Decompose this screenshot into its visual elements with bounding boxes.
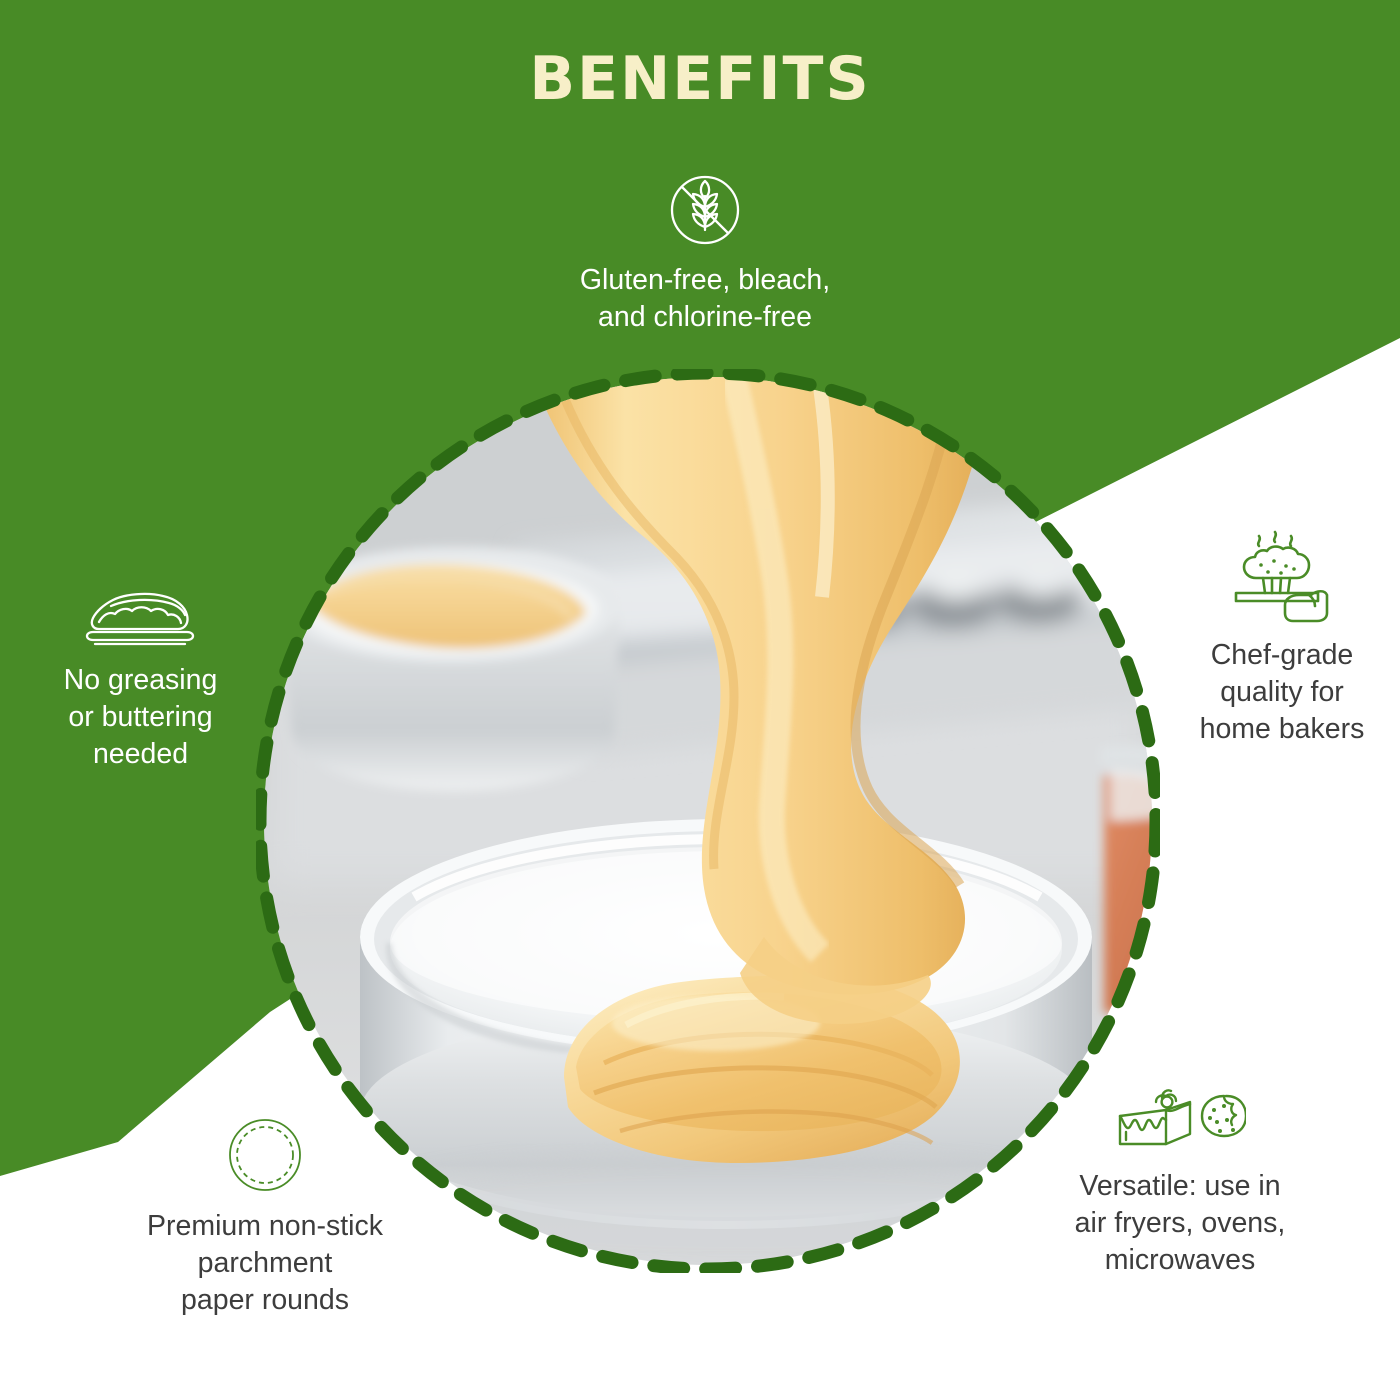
feature-chef-grade: Chef-grade quality for home bakers [1172, 527, 1392, 748]
feature-parchment-rounds: Premium non-stick parchment paper rounds [105, 1112, 425, 1319]
feature-label: Chef-grade quality for home bakers [1172, 637, 1392, 748]
feature-no-greasing: No greasing or buttering needed [18, 586, 263, 773]
feature-label: Premium non-stick parchment paper rounds [105, 1208, 425, 1319]
feature-label: Gluten-free, bleach, and chlorine-free [520, 262, 890, 336]
feature-label: No greasing or buttering needed [18, 662, 263, 773]
hand-holding-tray-with-muffin-icon [1172, 527, 1392, 627]
cake-slice-and-cookie-icon [1030, 1082, 1330, 1158]
dashed-parchment-round-icon [105, 1112, 425, 1198]
feature-gluten-free: Gluten-free, bleach, and chlorine-free [520, 168, 890, 336]
page-title: BENEFITS [0, 44, 1400, 114]
feature-label: Versatile: use in air fryers, ovens, mic… [1030, 1168, 1330, 1279]
feature-versatile: Versatile: use in air fryers, ovens, mic… [1030, 1082, 1330, 1279]
wheat-no-gluten-icon [520, 168, 890, 252]
bread-loaf-on-plate-icon [18, 586, 263, 652]
